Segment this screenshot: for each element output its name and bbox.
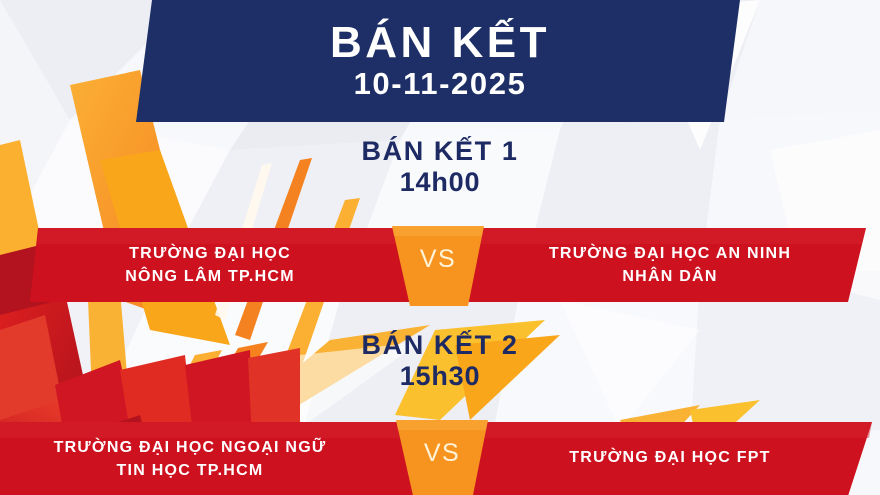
page-title: BÁN KẾT [330, 21, 550, 66]
event-date: 10-11-2025 [354, 68, 527, 101]
match-1-vs-badge [388, 220, 488, 308]
header-text-group: BÁN KẾT 10-11-2025 [150, 0, 730, 122]
tournament-bracket-poster: BÁN KẾT 10-11-2025 BÁN KẾT 1 14h00 TRƯỜN… [0, 0, 880, 495]
match-2-vs-badge [392, 414, 492, 495]
